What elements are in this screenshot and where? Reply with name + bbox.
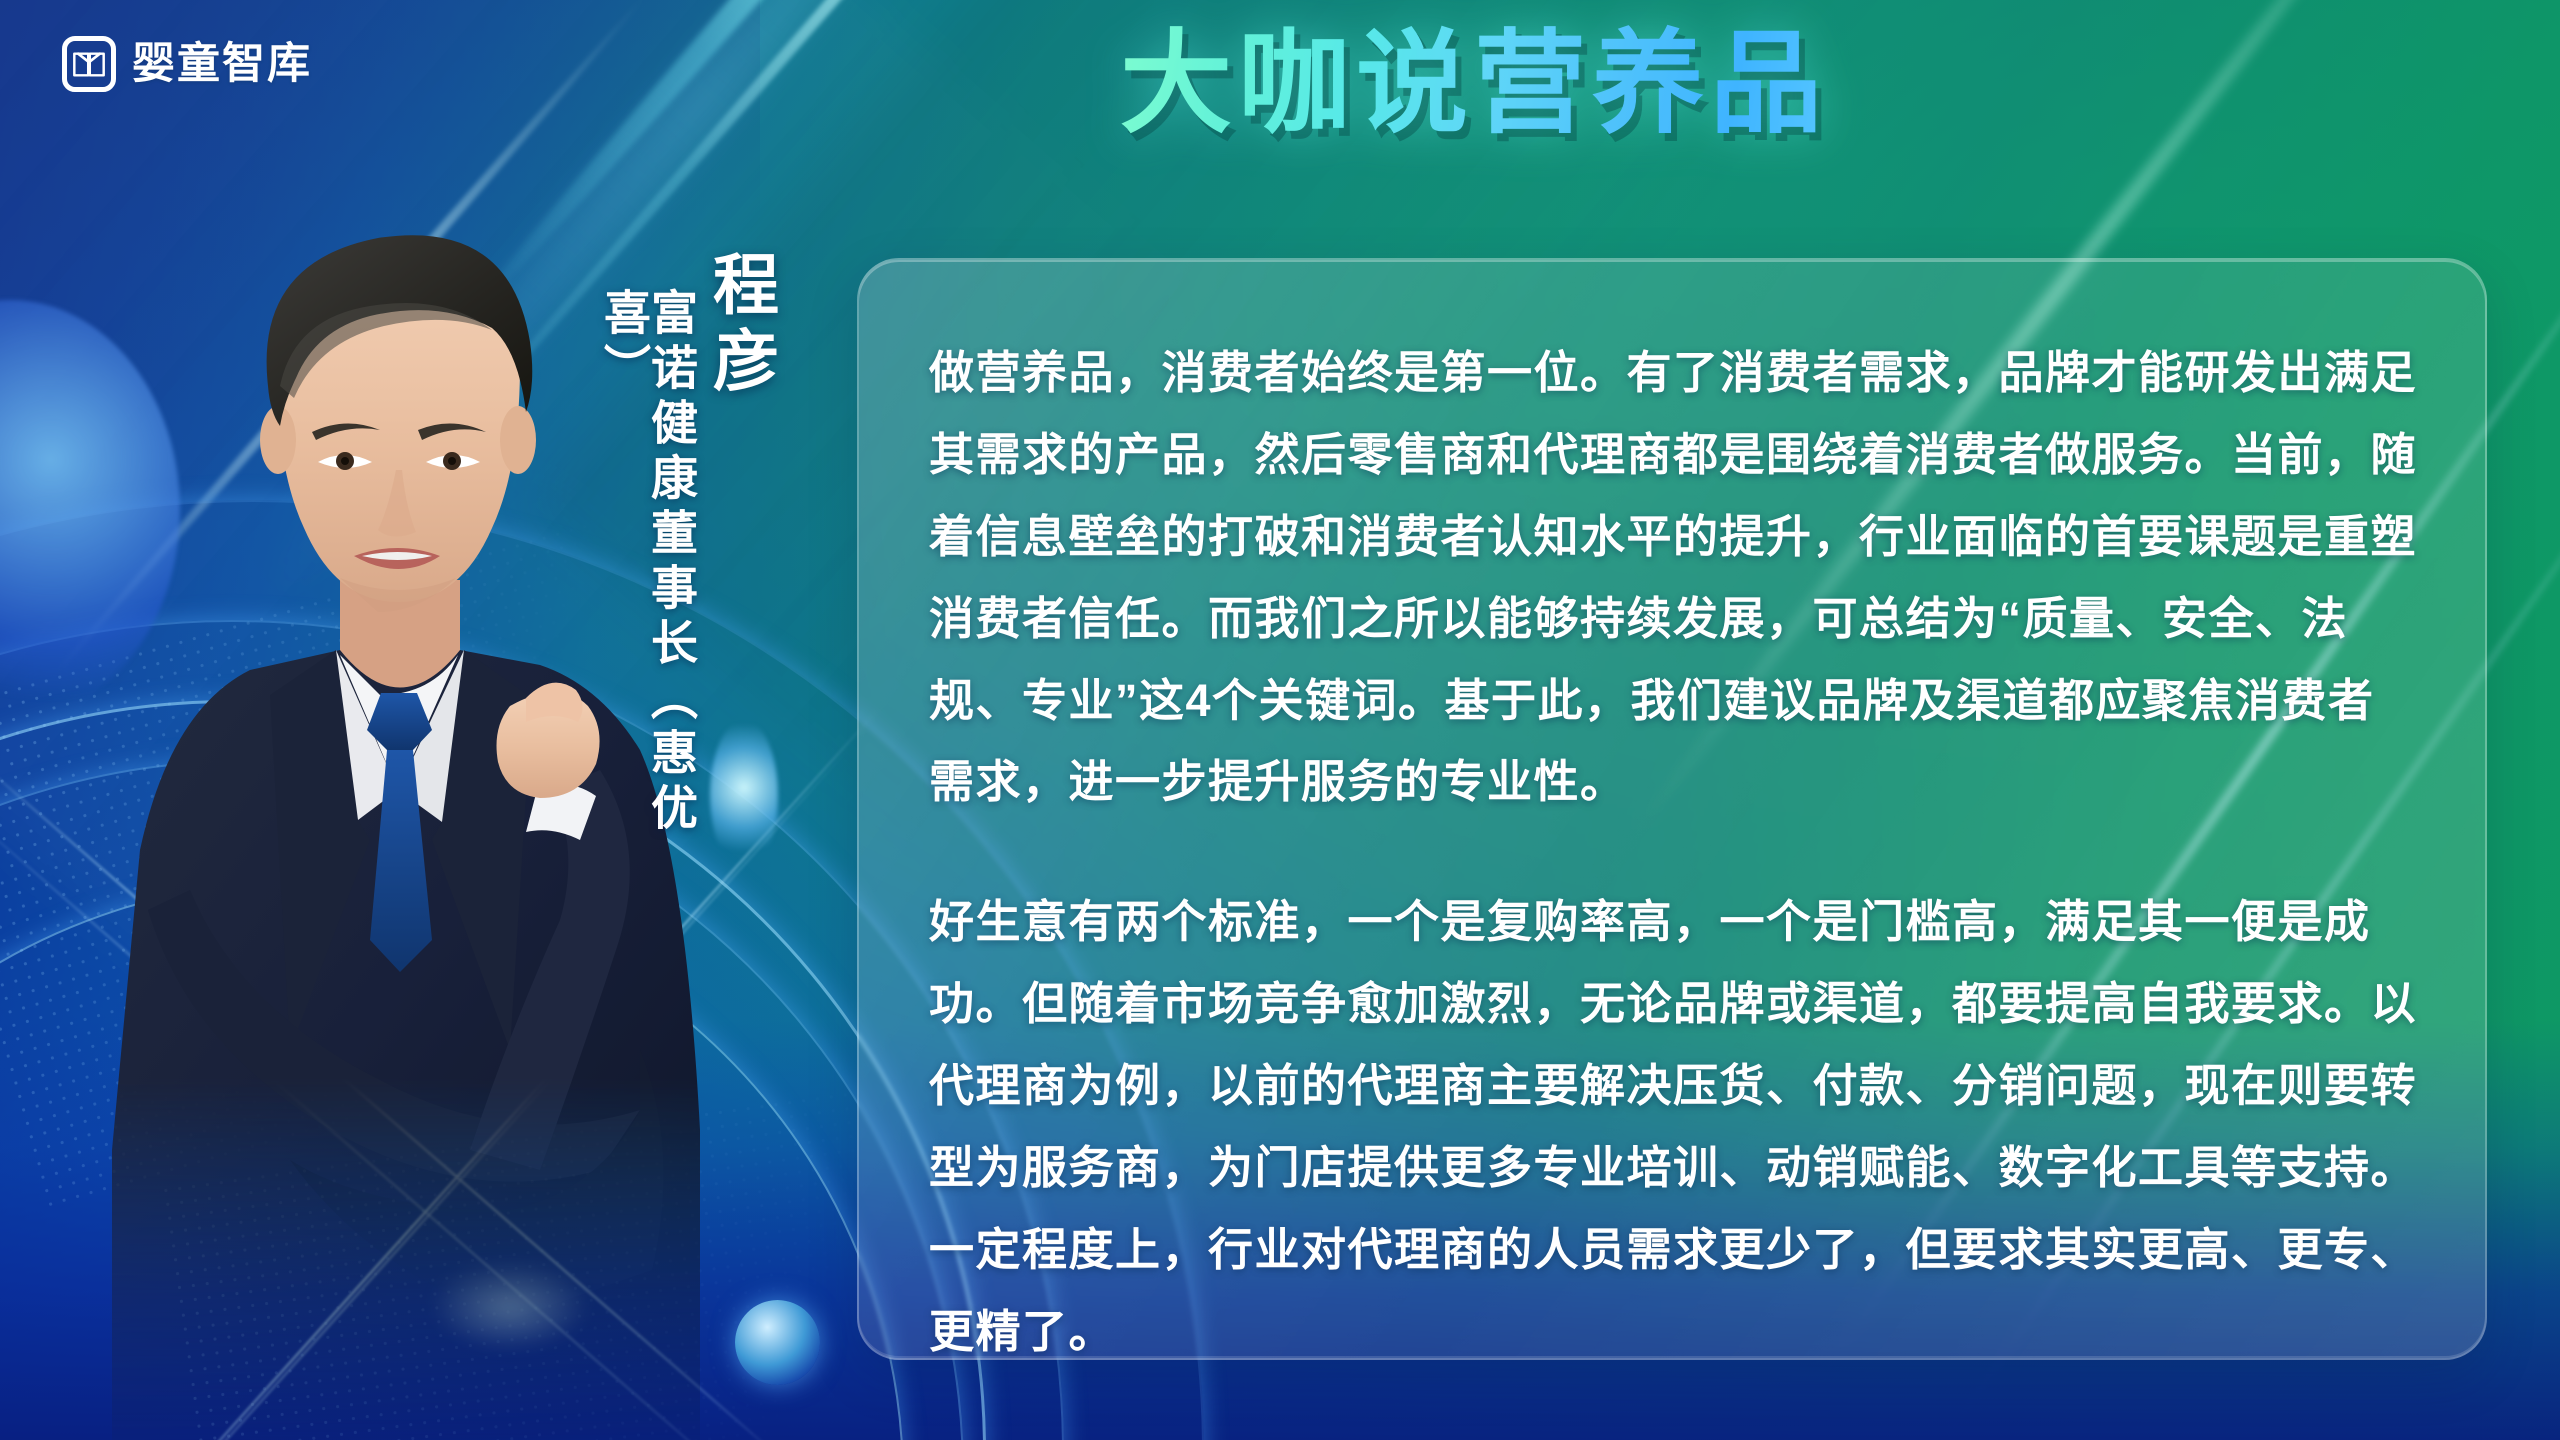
quote-text: 做营养品，消费者始终是第一位。有了消费者需求，品牌才能研发出满足其需求的产品，然… bbox=[929, 332, 2421, 1373]
quote-card: 做营养品，消费者始终是第一位。有了消费者需求，品牌才能研发出满足其需求的产品，然… bbox=[857, 258, 2487, 1360]
speaker-role: 富诺健康董事长（惠优喜） bbox=[600, 288, 694, 878]
open-book-icon bbox=[62, 36, 116, 92]
poster-canvas: 婴童智库 大咖说营养品 bbox=[0, 0, 2560, 1440]
quote-paragraph: 做营养品，消费者始终是第一位。有了消费者需求，品牌才能研发出满足其需求的产品，然… bbox=[929, 332, 2421, 823]
page-title: 大咖说营养品 bbox=[1120, 22, 1828, 147]
speaker-identity: 富诺健康董事长（惠优喜） 程彦 bbox=[600, 250, 774, 878]
quote-paragraph: 好生意有两个标准，一个是复购率高，一个是门槛高，满足其一便是成功。但随着市场竞争… bbox=[929, 881, 2421, 1372]
brand-logo[interactable]: 婴童智库 bbox=[62, 36, 312, 92]
speaker-name: 程彦 bbox=[708, 250, 774, 402]
brand-name: 婴童智库 bbox=[132, 43, 312, 86]
